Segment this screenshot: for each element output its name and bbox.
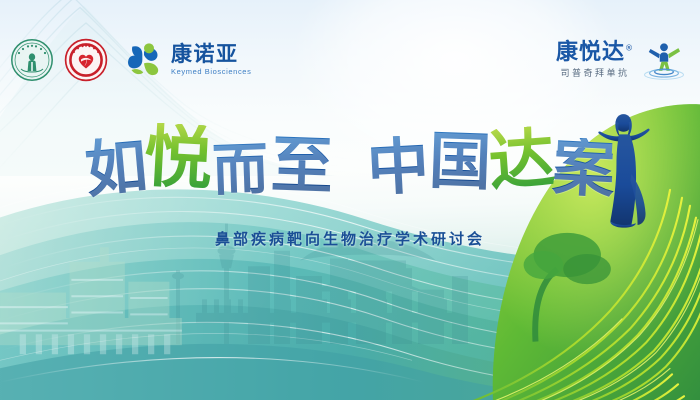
title-char-3: 而 — [211, 141, 269, 199]
title-char-6: 国 — [428, 130, 492, 194]
page-title: 如悦而至中国达案 — [0, 133, 700, 195]
keymed-name-cn: 康诺亚 — [171, 44, 251, 65]
title-char-8: 案 — [551, 136, 616, 201]
keymed-k-mark-icon — [124, 40, 164, 80]
conference-banner: 康诺亚 Keymed Biosciences 康悦达® 司普奇拜单抗 — [0, 0, 700, 400]
hospital-seal-green-icon — [10, 38, 54, 82]
keymed-name-en: Keymed Biosciences — [171, 68, 251, 76]
kangyueda-generic-name: 司普奇拜单抗 — [556, 70, 634, 79]
person-on-ripple-icon — [642, 40, 686, 80]
title-char-4: 至 — [270, 134, 334, 198]
keymed-logo: 康诺亚 Keymed Biosciences — [124, 40, 251, 80]
kangyueda-logo: 康悦达® 司普奇拜单抗 — [556, 40, 686, 80]
modern-building-silhouette — [0, 240, 189, 376]
hospital-seal-red-icon — [64, 38, 108, 82]
title-char-5: 中 — [366, 134, 431, 199]
registered-mark: ® — [625, 43, 634, 52]
title-char-7: 达 — [487, 125, 557, 195]
title-char-2: 悦 — [142, 122, 214, 194]
kangyueda-name-cn: 康悦达® — [556, 42, 634, 64]
partner-logo-row: 康诺亚 Keymed Biosciences — [10, 38, 251, 82]
title-char-1: 如 — [83, 134, 150, 201]
kangyueda-name-text: 康悦达 — [556, 40, 625, 65]
event-subtitle: 鼻部疾病靶向生物治疗学术研讨会 — [0, 228, 700, 249]
